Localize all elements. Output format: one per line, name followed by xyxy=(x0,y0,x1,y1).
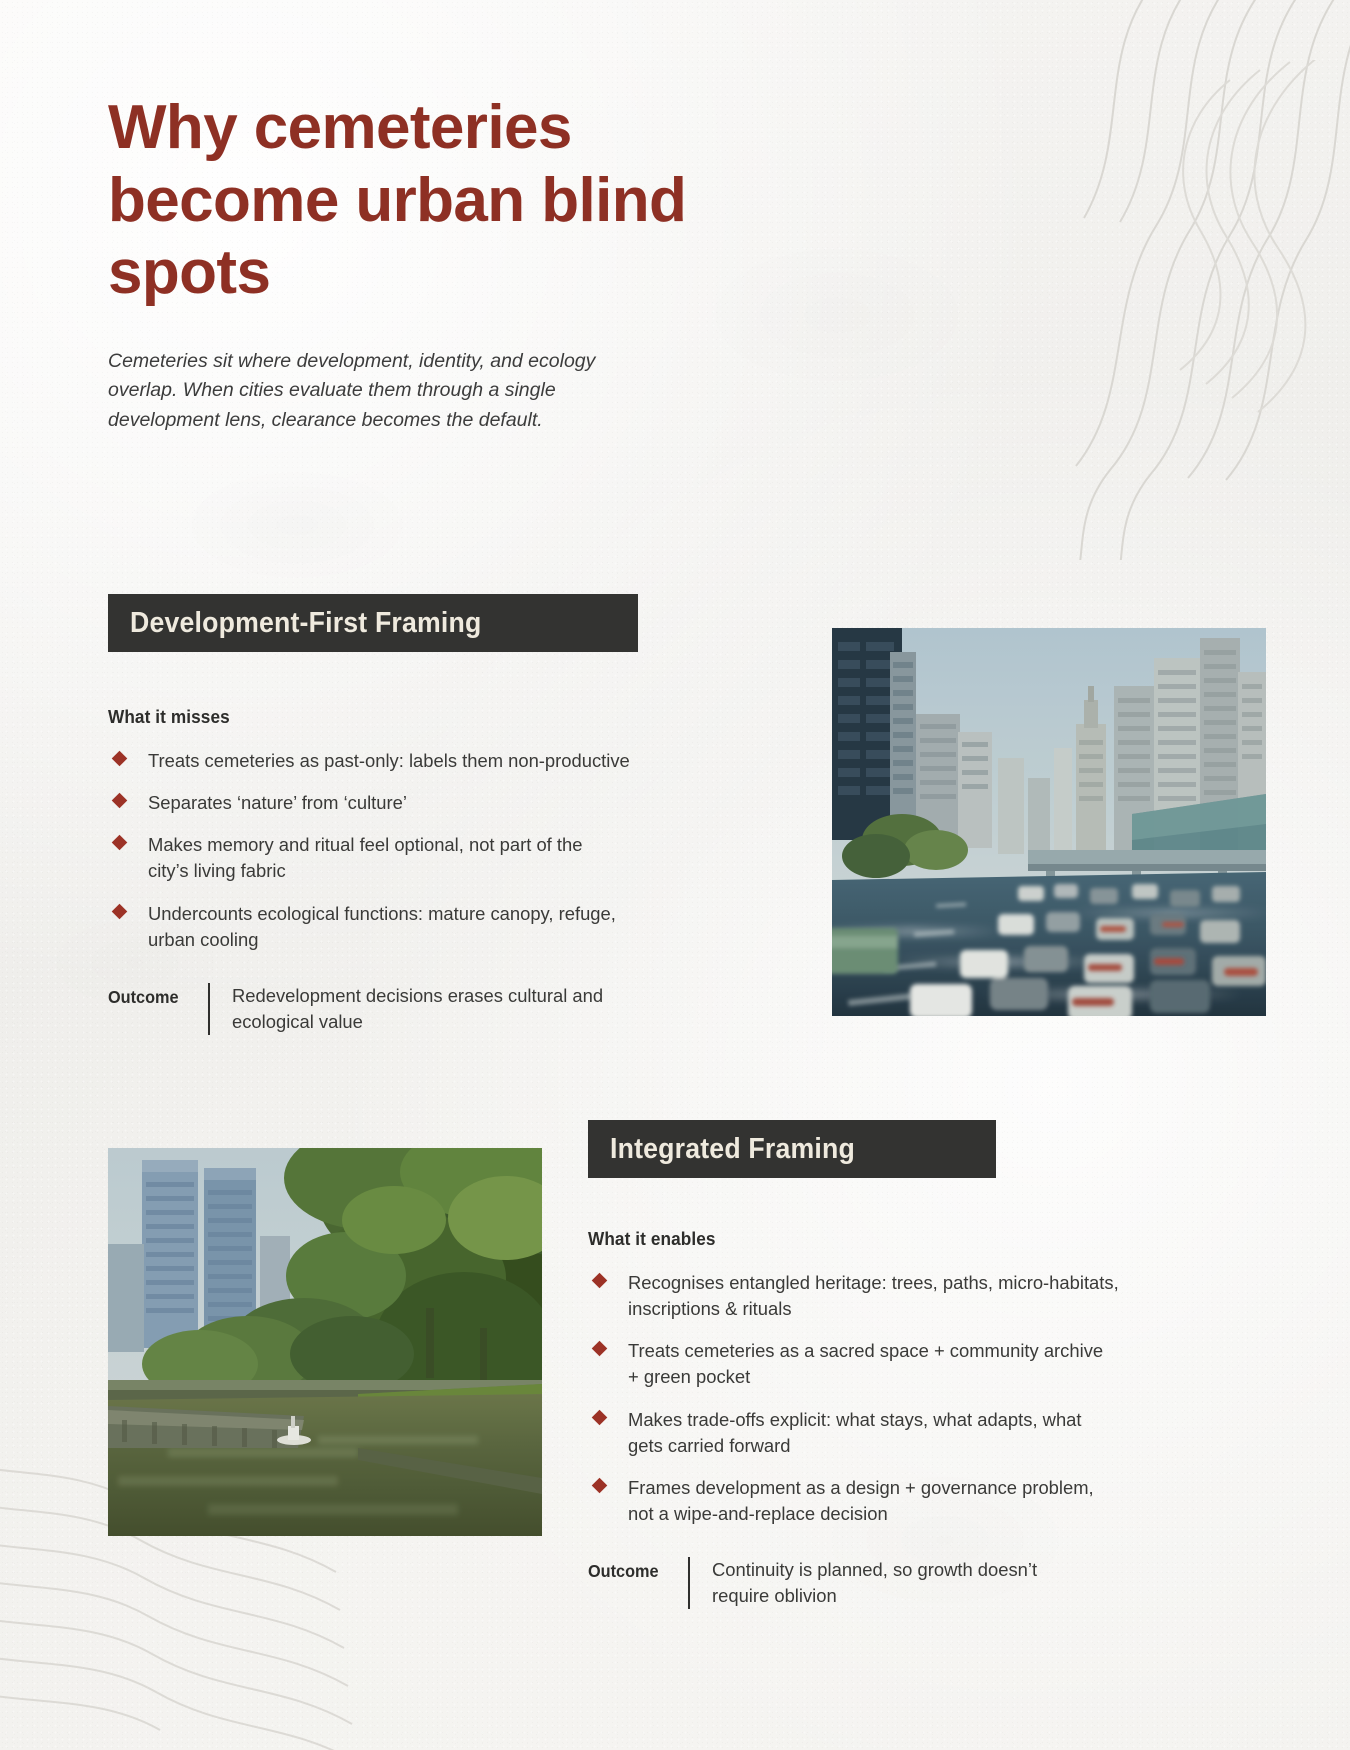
list-item-text: Separates ‘nature’ from ‘culture’ xyxy=(148,790,798,816)
diamond-bullet-icon xyxy=(592,1477,608,1493)
section-banner-label: Development-First Framing xyxy=(130,607,481,640)
outcome-text: Continuity is planned, so growth doesn’t… xyxy=(712,1557,1037,1609)
list-item: Recognises entangled heritage: trees, pa… xyxy=(588,1270,1278,1322)
diamond-bullet-icon xyxy=(592,1409,608,1425)
section-banner-integrated: Integrated Framing xyxy=(588,1120,996,1178)
list-item-text: Recognises entangled heritage: trees, pa… xyxy=(628,1270,1278,1322)
section-kicker: What it enables xyxy=(588,1228,1230,1250)
diamond-bullet-icon xyxy=(112,751,128,767)
list-item-text: Treats cemeteries as a sacred space + co… xyxy=(628,1338,1278,1390)
city-traffic-photo xyxy=(832,628,1266,1016)
list-item: Makes trade-offs explicit: what stays, w… xyxy=(588,1407,1278,1459)
diamond-bullet-icon xyxy=(112,793,128,809)
list-item-text: Makes memory and ritual feel optional, n… xyxy=(148,832,798,884)
outcome-label: Outcome xyxy=(108,983,201,1008)
outcome-divider xyxy=(208,983,210,1035)
diamond-bullet-icon xyxy=(112,903,128,919)
list-item-text: Treats cemeteries as past-only: labels t… xyxy=(148,748,798,774)
poster-header: Why cemeteries become urban blind spots … xyxy=(108,92,748,436)
bullet-list-what-it-misses: Treats cemeteries as past-only: labels t… xyxy=(108,748,798,953)
outcome-row: Outcome Redevelopment decisions erases c… xyxy=(108,983,798,1035)
list-item-text: Makes trade-offs explicit: what stays, w… xyxy=(628,1407,1278,1459)
list-item: Separates ‘nature’ from ‘culture’ xyxy=(108,790,798,816)
green-canal-photo xyxy=(108,1148,542,1536)
list-item: Treats cemeteries as a sacred space + co… xyxy=(588,1338,1278,1390)
list-item-text: Frames development as a design + governa… xyxy=(628,1475,1278,1527)
diamond-bullet-icon xyxy=(592,1273,608,1289)
diamond-bullet-icon xyxy=(592,1341,608,1357)
section-body-development-first: What it misses Treats cemeteries as past… xyxy=(108,706,798,1035)
bullet-list-what-it-enables: Recognises entangled heritage: trees, pa… xyxy=(588,1270,1278,1527)
page-title: Why cemeteries become urban blind spots xyxy=(108,92,748,310)
section-body-integrated: What it enables Recognises entangled her… xyxy=(588,1228,1278,1609)
section-banner-development-first: Development-First Framing xyxy=(108,594,638,652)
list-item: Frames development as a design + governa… xyxy=(588,1475,1278,1527)
outcome-text: Redevelopment decisions erases cultural … xyxy=(232,983,603,1035)
list-item: Makes memory and ritual feel optional, n… xyxy=(108,832,798,884)
page-subtitle: Cemeteries sit where development, identi… xyxy=(108,347,638,436)
section-kicker: What it misses xyxy=(108,706,750,728)
outcome-label: Outcome xyxy=(588,1557,681,1582)
poster-page: Why cemeteries become urban blind spots … xyxy=(0,0,1350,1750)
diamond-bullet-icon xyxy=(112,835,128,851)
outcome-divider xyxy=(688,1557,690,1609)
list-item: Undercounts ecological functions: mature… xyxy=(108,901,798,953)
list-item-text: Undercounts ecological functions: mature… xyxy=(148,901,798,953)
section-banner-label: Integrated Framing xyxy=(610,1133,855,1166)
list-item: Treats cemeteries as past-only: labels t… xyxy=(108,748,798,774)
outcome-row: Outcome Continuity is planned, so growth… xyxy=(588,1557,1278,1609)
